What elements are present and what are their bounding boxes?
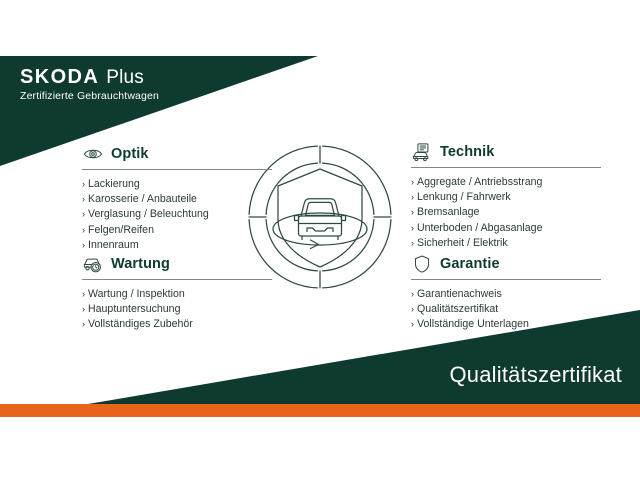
list-item: ›Qualitätszertifikat xyxy=(411,302,601,317)
certificate-page: SKODA Plus Zertifizierte Gebrauchtwagen xyxy=(0,0,640,480)
list-item: ›Lackierung xyxy=(82,177,272,192)
section-optik-title: Optik xyxy=(111,147,149,162)
brand-row: SKODA Plus xyxy=(20,67,159,87)
section-garantie-list: ›Garantienachweis ›Qualitätszertifikat ›… xyxy=(411,287,601,333)
list-item: ›Sicherheit / Elektrik xyxy=(411,236,601,251)
list-item: ›Hauptuntersuchung xyxy=(82,302,272,317)
list-item-label: Unterboden / Abgasanlage xyxy=(417,221,542,236)
section-wartung-header: Wartung xyxy=(82,253,272,275)
list-item-label: Qualitätszertifikat xyxy=(417,302,498,317)
car-mirror-left xyxy=(295,216,299,221)
car-mirror-right xyxy=(342,216,346,221)
bullet-chevron-icon: › xyxy=(82,177,85,192)
bullet-chevron-icon: › xyxy=(82,192,85,207)
list-item-label: Aggregate / Antriebsstrang xyxy=(417,175,542,190)
list-item: ›Felgen/Reifen xyxy=(82,223,272,238)
list-item: ›Aggregate / Antriebsstrang xyxy=(411,175,601,190)
brand-lockup: SKODA Plus Zertifizierte Gebrauchtwagen xyxy=(20,67,159,103)
bullet-chevron-icon: › xyxy=(82,207,85,222)
bullet-chevron-icon: › xyxy=(411,236,414,251)
bullet-chevron-icon: › xyxy=(82,223,85,238)
bullet-chevron-icon: › xyxy=(411,190,414,205)
list-item-label: Garantienachweis xyxy=(417,287,502,302)
inner-ring-arc-nw xyxy=(266,163,317,214)
bullet-chevron-icon: › xyxy=(82,287,85,302)
brand-tagline: Zertifizierte Gebrauchtwagen xyxy=(20,91,159,103)
list-item-label: Innenraum xyxy=(88,238,139,253)
section-optik-list: ›Lackierung ›Karosserie / Anbauteile ›Ve… xyxy=(82,177,272,253)
section-optik: Optik ›Lackierung ›Karosserie / Anbautei… xyxy=(82,143,272,253)
list-item-label: Lackierung xyxy=(88,177,140,192)
section-wartung-list: ›Wartung / Inspektion ›Hauptuntersuchung… xyxy=(82,287,272,333)
section-technik-rule xyxy=(411,167,601,168)
bullet-chevron-icon: › xyxy=(411,317,414,332)
outer-ring-arc-ne xyxy=(323,146,391,214)
list-item: ›Vollständige Unterlagen xyxy=(411,317,601,332)
list-item: ›Lenkung / Fahrwerk xyxy=(411,190,601,205)
bullet-chevron-icon: › xyxy=(411,205,414,220)
orbit-ellipse xyxy=(273,213,367,245)
list-item-label: Karosserie / Anbauteile xyxy=(88,192,197,207)
inner-ring-arc-ne xyxy=(323,163,374,214)
list-item-label: Lenkung / Fahrwerk xyxy=(417,190,511,205)
car-grille xyxy=(307,228,333,232)
list-item: ›Wartung / Inspektion xyxy=(82,287,272,302)
car-engine-document-icon xyxy=(411,142,433,162)
footer-title: Qualitätszertifikat xyxy=(449,362,622,388)
list-item: ›Unterboden / Abgasanlage xyxy=(411,221,601,236)
car-body xyxy=(299,216,342,236)
eye-icon xyxy=(82,144,104,164)
section-optik-rule xyxy=(82,169,272,170)
brand-plus-label: Plus xyxy=(106,68,144,87)
list-item: ›Bremsanlage xyxy=(411,205,601,220)
shield-icon xyxy=(411,254,433,274)
list-item: ›Vollständiges Zubehör xyxy=(82,317,272,332)
list-item-label: Vollständiges Zubehör xyxy=(88,317,193,332)
bullet-chevron-icon: › xyxy=(411,221,414,236)
list-item-label: Bremsanlage xyxy=(417,205,479,220)
bullet-chevron-icon: › xyxy=(82,317,85,332)
section-technik-header: Technik xyxy=(411,141,601,163)
orange-bar xyxy=(0,404,640,417)
car-service-clock-icon xyxy=(82,254,104,274)
bullet-chevron-icon: › xyxy=(411,302,414,317)
list-item-label: Verglasung / Beleuchtung xyxy=(88,207,209,222)
list-item-label: Vollständige Unterlagen xyxy=(417,317,529,332)
section-wartung-title: Wartung xyxy=(111,257,170,272)
section-technik-title: Technik xyxy=(440,145,494,160)
section-optik-header: Optik xyxy=(82,143,272,165)
list-item: ›Verglasung / Beleuchtung xyxy=(82,207,272,222)
section-garantie-rule xyxy=(411,279,601,280)
list-item: ›Garantienachweis xyxy=(411,287,601,302)
section-garantie-header: Garantie xyxy=(411,253,601,275)
bullet-chevron-icon: › xyxy=(411,175,414,190)
bullet-chevron-icon: › xyxy=(411,287,414,302)
section-garantie: Garantie ›Garantienachweis ›Qualitätszer… xyxy=(411,253,601,333)
bullet-chevron-icon: › xyxy=(82,238,85,253)
section-wartung-rule xyxy=(82,279,272,280)
list-item-label: Felgen/Reifen xyxy=(88,223,154,238)
brand-skoda-wordmark: SKODA xyxy=(20,67,99,87)
list-item: ›Karosserie / Anbauteile xyxy=(82,192,272,207)
section-wartung: Wartung ›Wartung / Inspektion ›Hauptunte… xyxy=(82,253,272,333)
list-item-label: Hauptuntersuchung xyxy=(88,302,180,317)
section-technik-list: ›Aggregate / Antriebsstrang ›Lenkung / F… xyxy=(411,175,601,251)
section-garantie-title: Garantie xyxy=(440,257,500,272)
list-item: ›Innenraum xyxy=(82,238,272,253)
list-item-label: Wartung / Inspektion xyxy=(88,287,185,302)
list-item-label: Sicherheit / Elektrik xyxy=(417,236,508,251)
section-technik: Technik ›Aggregate / Antriebsstrang ›Len… xyxy=(411,141,601,251)
bullet-chevron-icon: › xyxy=(82,302,85,317)
shield-outline xyxy=(278,169,362,267)
